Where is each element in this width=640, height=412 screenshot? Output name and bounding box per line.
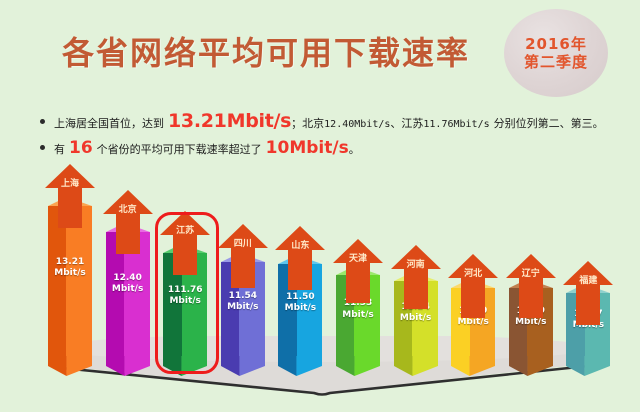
infographic-canvas: 13.21Mbit/s上海12.40Mbit/s北京111.76Mbit/s江苏…: [0, 0, 640, 412]
arrow-marker-四川: 四川: [216, 222, 270, 290]
bullet-row-2: 有 16 个省份的平均可用下载速率超过了 10Mbit/s 。: [40, 138, 620, 158]
arrow-marker-辽宁: 辽宁: [504, 252, 558, 320]
badge-quarter: 第二季度: [524, 53, 588, 71]
bullet2-count: 16: [69, 138, 93, 158]
arrow-marker-山东: 山东: [273, 224, 327, 292]
bullet2-seg2: 个省份的平均可用下载速率超过了: [97, 141, 262, 157]
bullet1-highlight: 13.21Mbit/s: [168, 110, 291, 132]
bullet2-threshold: 10Mbit/s: [266, 138, 349, 158]
bullet-dot-icon: [40, 145, 45, 150]
summary-bullets: 上海居全国首位，达到 13.21Mbit/s ；北京 12.40Mbit/s 、…: [40, 110, 620, 164]
bullet1-seg1: 上海居全国首位，达到: [54, 115, 164, 131]
badge-year: 2016年: [525, 35, 587, 53]
arrow-marker-上海: 上海: [43, 162, 97, 230]
arrow-marker-河南: 河南: [389, 243, 443, 311]
quarter-badge: 2016年 第二季度: [504, 9, 608, 97]
bullet-row-1: 上海居全国首位，达到 13.21Mbit/s ；北京 12.40Mbit/s 、…: [40, 110, 620, 132]
bullet1-seg2: ；北京: [291, 115, 324, 131]
arrow-marker-天津: 天津: [331, 237, 385, 305]
arrow-marker-北京: 北京: [101, 188, 155, 256]
arrow-marker-河北: 河北: [446, 252, 500, 320]
bullet2-seg3: 。: [349, 141, 360, 157]
bullet1-mono2: 11.76Mbit/s: [423, 119, 489, 130]
bullet1-seg4: 分别位列第二、第三。: [494, 115, 604, 131]
page-title: 各省网络平均可用下载速率: [62, 28, 502, 74]
jiangsu-highlight-box: [155, 212, 219, 374]
bullet-dot-icon: [40, 119, 45, 124]
arrow-marker-福建: 福建: [561, 259, 615, 327]
bullet2-seg1: 有: [54, 141, 65, 157]
bullet1-seg3: 、江苏: [390, 115, 423, 131]
bullet1-mono1: 12.40Mbit/s: [324, 119, 390, 130]
